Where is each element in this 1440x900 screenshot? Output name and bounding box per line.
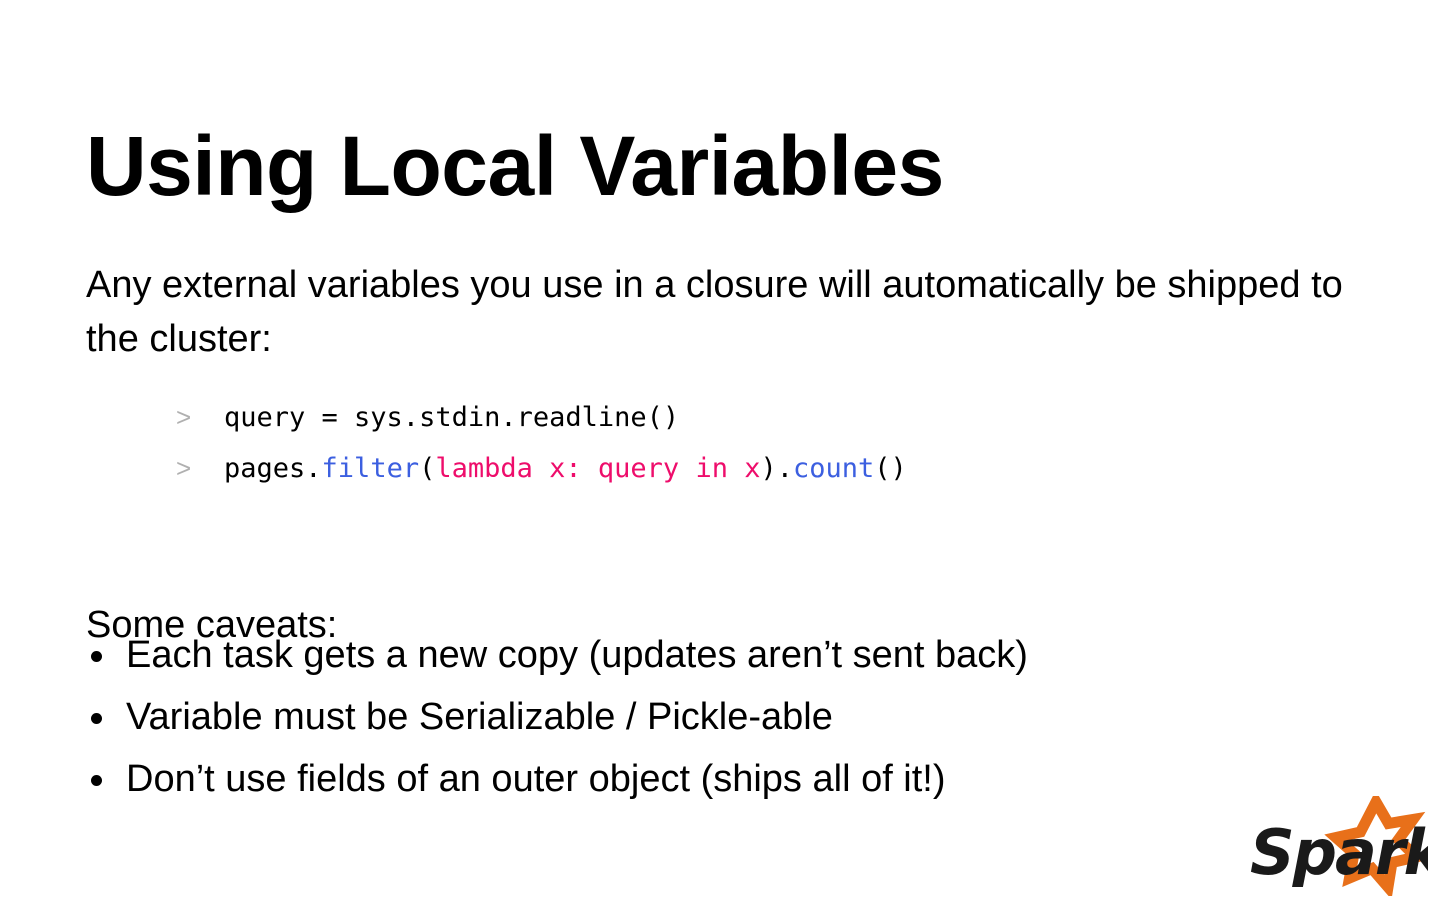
code-line: >query = sys.stdin.readline() — [176, 392, 907, 443]
code-token: () — [874, 453, 907, 484]
code-token: ( — [419, 453, 435, 484]
caveats-list: Each task gets a new copy (updates aren’… — [86, 624, 1286, 810]
intro-paragraph: Any external variables you use in a clos… — [86, 258, 1346, 366]
bullet-dot-icon — [91, 775, 102, 786]
list-item: Don’t use fields of an outer object (shi… — [86, 748, 1286, 810]
code-prompt-icon: > — [176, 392, 224, 443]
list-item: Variable must be Serializable / Pickle-a… — [86, 686, 1286, 748]
page-title: Using Local Variables — [86, 118, 944, 214]
list-item-label: Each task gets a new copy (updates aren’… — [126, 634, 1028, 676]
code-block: >query = sys.stdin.readline() >pages.fil… — [176, 392, 907, 494]
list-item: Each task gets a new copy (updates aren’… — [86, 624, 1286, 686]
slide: Using Local Variables Any external varia… — [0, 0, 1440, 900]
code-line: >pages.filter(lambda x: query in x).coun… — [176, 443, 907, 494]
svg-text:Spark: Spark — [1250, 816, 1428, 889]
code-prompt-icon: > — [176, 443, 224, 494]
bullet-dot-icon — [91, 713, 102, 724]
code-token-lambda: lambda x: query in x — [435, 453, 760, 484]
spark-wordmark: Spark — [1250, 816, 1428, 889]
list-item-label: Don’t use fields of an outer object (shi… — [126, 758, 946, 800]
code-token: query = sys.stdin.readline() — [224, 402, 679, 433]
code-token-count: count — [793, 453, 874, 484]
bullet-dot-icon — [91, 651, 102, 662]
spark-logo: Spark — [1248, 796, 1428, 896]
code-token: . — [777, 453, 793, 484]
code-token: ) — [760, 453, 776, 484]
code-token: pages. — [224, 453, 322, 484]
list-item-label: Variable must be Serializable / Pickle-a… — [126, 696, 833, 738]
code-token-filter: filter — [322, 453, 420, 484]
